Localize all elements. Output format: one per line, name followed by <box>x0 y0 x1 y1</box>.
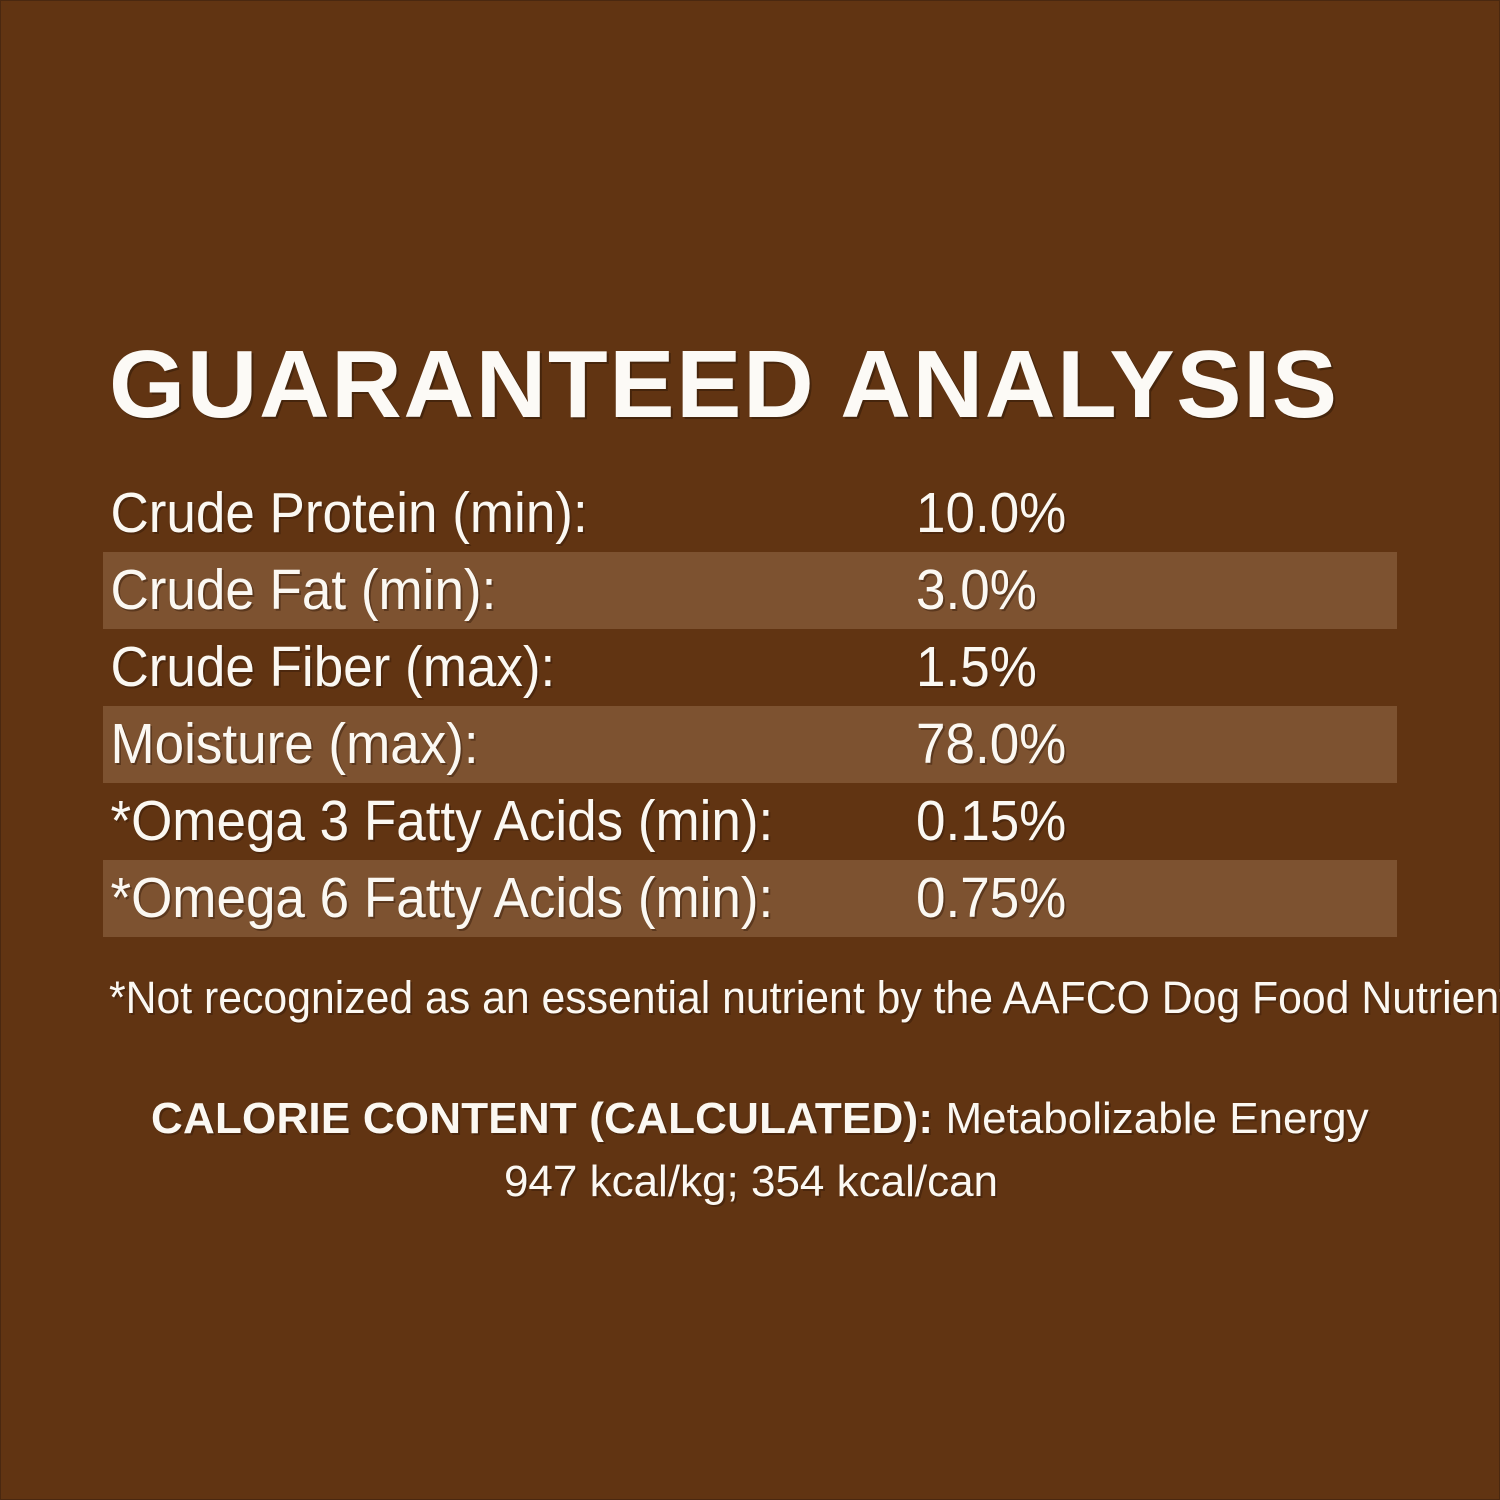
calorie-values: 947 kcal/kg; 354 kcal/can <box>151 1154 1351 1209</box>
guaranteed-analysis-table: Crude Protein (min):10.0%Crude Fat (min)… <box>103 475 1397 937</box>
nutrient-value: 0.75% <box>916 870 1363 927</box>
page-title: GUARANTEED ANALYSIS <box>109 337 1435 433</box>
table-row: Crude Fat (min):3.0% <box>103 552 1397 629</box>
calorie-energy-type: Metabolizable Energy <box>945 1094 1368 1143</box>
nutrient-value: 0.15% <box>916 793 1363 850</box>
nutrient-value: 10.0% <box>916 485 1363 542</box>
table-row: Crude Fiber (max):1.5% <box>103 629 1397 706</box>
guaranteed-analysis-panel: GUARANTEED ANALYSIS Crude Protein (min):… <box>0 0 1500 1500</box>
aafco-footnote: *Not recognized as an essential nutrient… <box>109 973 1363 1023</box>
nutrient-value: 78.0% <box>916 716 1363 773</box>
nutrient-label: *Omega 6 Fatty Acids (min): <box>103 870 859 927</box>
nutrient-value: 3.0% <box>916 562 1363 619</box>
nutrient-label: Crude Protein (min): <box>103 485 859 542</box>
nutrient-label: Moisture (max): <box>103 716 859 773</box>
table-row: *Omega 6 Fatty Acids (min):0.75% <box>103 860 1397 937</box>
nutrient-value: 1.5% <box>916 639 1363 696</box>
table-row: Crude Protein (min):10.0% <box>103 475 1397 552</box>
nutrient-label: Crude Fiber (max): <box>103 639 859 696</box>
table-row: *Omega 3 Fatty Acids (min):0.15% <box>103 783 1397 860</box>
calorie-content-heading: CALORIE CONTENT (CALCULATED): <box>151 1094 933 1143</box>
table-row: Moisture (max):78.0% <box>103 706 1397 783</box>
calorie-content-block: CALORIE CONTENT (CALCULATED): Metaboliza… <box>151 1091 1351 1209</box>
nutrient-label: Crude Fat (min): <box>103 562 859 619</box>
calorie-content-line: CALORIE CONTENT (CALCULATED): Metaboliza… <box>151 1091 1351 1146</box>
nutrient-label: *Omega 3 Fatty Acids (min): <box>103 793 859 850</box>
